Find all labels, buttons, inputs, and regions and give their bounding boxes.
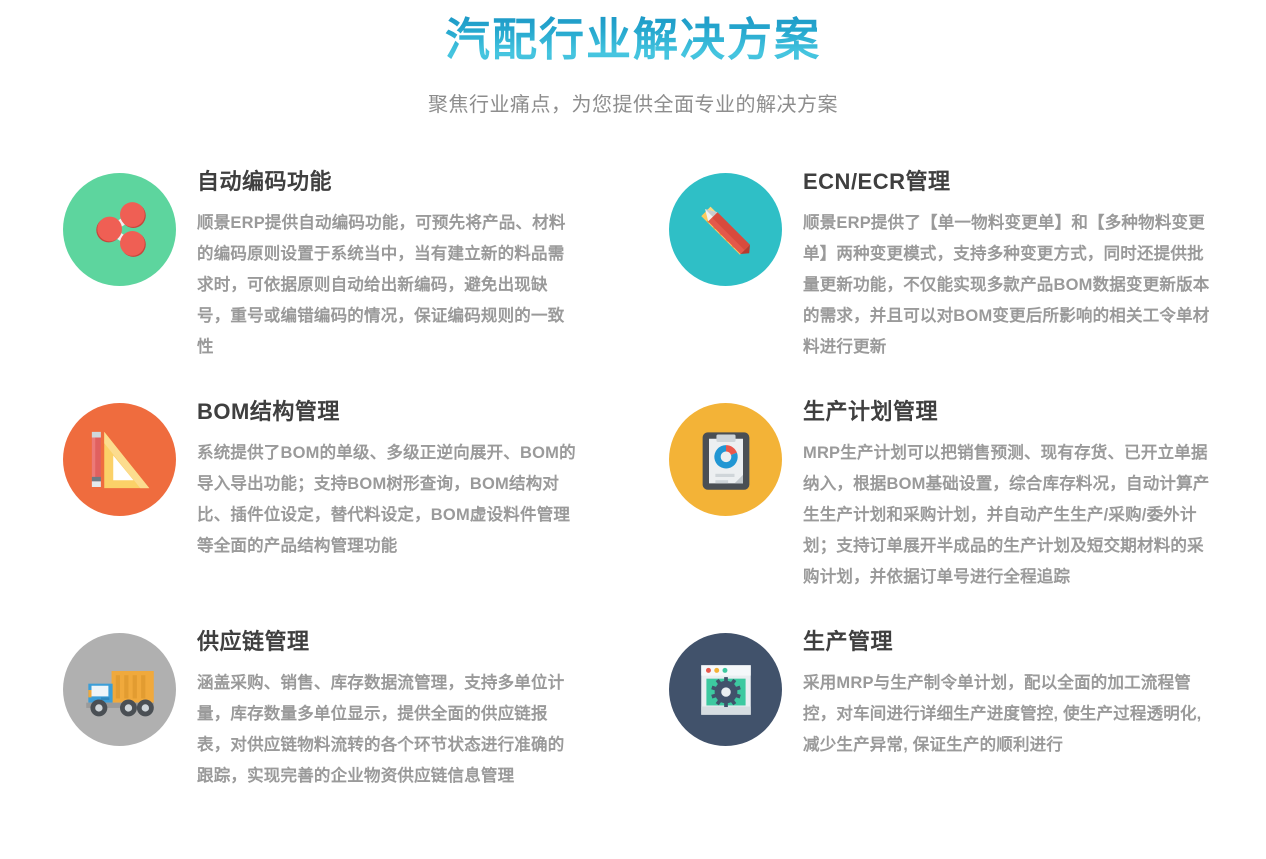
feature-card-production-plan[interactable]: 生产计划管理 MRP生产计划可以把销售预测、现有存货、已开立单据纳入，根据BOM… [669, 399, 1203, 629]
feature-body: ECN/ECR管理 顺景ERP提供了【单一物料变更单】和【多种物料变更单】两种变… [803, 169, 1203, 362]
feature-body: BOM结构管理 系统提供了BOM的单级、多级正逆向展开、BOM的导入导出功能；支… [197, 399, 597, 561]
feature-body: 自动编码功能 顺景ERP提供自动编码功能，可预先将产品、材料的编码原则设置于系统… [197, 169, 597, 362]
feature-card-auto-coding[interactable]: 自动编码功能 顺景ERP提供自动编码功能，可预先将产品、材料的编码原则设置于系统… [63, 169, 597, 399]
feature-description: 顺景ERP提供了【单一物料变更单】和【多种物料变更单】两种变更模式，支持多种变更… [803, 208, 1218, 363]
feature-card-production-mgmt[interactable]: 生产管理 采用MRP与生产制令单计划，配以全面的加工流程管控，对车间进行详细生产… [669, 629, 1203, 859]
feature-icon-wrap [669, 173, 782, 286]
feature-description: MRP生产计划可以把销售预测、现有存货、已开立单据纳入，根据BOM基础设置，综合… [803, 438, 1218, 593]
triangle-ruler-pencil-icon [63, 403, 176, 516]
feature-icon-wrap [63, 173, 176, 286]
feature-description: 涵盖采购、销售、库存数据流管理，支持多单位计量，库存数量多单位显示，提供全面的供… [197, 668, 579, 792]
feature-body: 供应链管理 涵盖采购、销售、库存数据流管理，支持多单位计量，库存数量多单位显示，… [197, 629, 597, 791]
page-subtitle: 聚焦行业痛点，为您提供全面专业的解决方案 [0, 88, 1266, 117]
feature-title: 生产计划管理 [803, 399, 1203, 425]
feature-title: 自动编码功能 [197, 169, 597, 195]
feature-title: ECN/ECR管理 [803, 169, 1203, 195]
feature-card-supply-chain[interactable]: 供应链管理 涵盖采购、销售、库存数据流管理，支持多单位计量，库存数量多单位显示，… [63, 629, 597, 859]
feature-description: 顺景ERP提供自动编码功能，可预先将产品、材料的编码原则设置于系统当中，当有建立… [197, 208, 579, 363]
page-header: 汽配行业解决方案 聚焦行业痛点，为您提供全面专业的解决方案 [0, 0, 1266, 117]
pencil-ruler-icon [669, 173, 782, 286]
browser-gear-icon [669, 633, 782, 746]
features-grid: 自动编码功能 顺景ERP提供自动编码功能，可预先将产品、材料的编码原则设置于系统… [63, 169, 1203, 859]
feature-card-ecn-ecr[interactable]: ECN/ECR管理 顺景ERP提供了【单一物料变更单】和【多种物料变更单】两种变… [669, 169, 1203, 399]
feature-description: 采用MRP与生产制令单计划，配以全面的加工流程管控，对车间进行详细生产进度管控,… [803, 668, 1218, 761]
feature-title: 供应链管理 [197, 629, 597, 655]
delivery-truck-icon [63, 633, 176, 746]
share-nodes-icon [63, 173, 176, 286]
feature-icon-wrap [63, 633, 176, 746]
feature-icon-wrap [669, 633, 782, 746]
feature-body: 生产管理 采用MRP与生产制令单计划，配以全面的加工流程管控，对车间进行详细生产… [803, 629, 1203, 760]
feature-title: BOM结构管理 [197, 399, 597, 425]
page-title: 汽配行业解决方案 [0, 12, 1266, 68]
feature-icon-wrap [63, 403, 176, 516]
feature-description: 系统提供了BOM的单级、多级正逆向展开、BOM的导入导出功能；支持BOM树形查询… [197, 438, 579, 562]
feature-icon-wrap [669, 403, 782, 516]
feature-body: 生产计划管理 MRP生产计划可以把销售预测、现有存货、已开立单据纳入，根据BOM… [803, 399, 1203, 592]
feature-card-bom-structure[interactable]: BOM结构管理 系统提供了BOM的单级、多级正逆向展开、BOM的导入导出功能；支… [63, 399, 597, 629]
feature-title: 生产管理 [803, 629, 1203, 655]
clipboard-donut-chart-icon [669, 403, 782, 516]
